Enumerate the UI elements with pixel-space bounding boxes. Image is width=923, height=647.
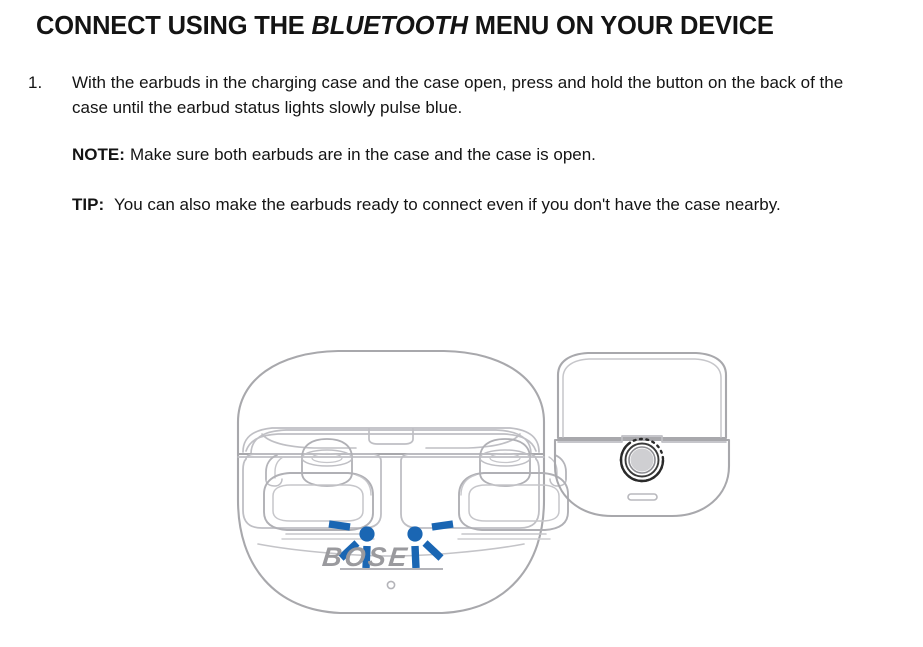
- right-status-light-ray-down: [415, 546, 416, 568]
- note-callout: NOTE: Make sure both earbuds are in the …: [72, 142, 908, 167]
- right-status-light-dot: [407, 526, 422, 541]
- note-text: Make sure both earbuds are in the case a…: [130, 142, 908, 167]
- step-number: 1.: [28, 70, 72, 95]
- instruction-step-1: 1. With the earbuds in the charging case…: [28, 70, 908, 217]
- case-lid-outline: [238, 351, 544, 454]
- case-open-front-view: [238, 351, 568, 613]
- right-status-light-ray-diag: [425, 543, 441, 558]
- right-earbud-ear-tip-top: [480, 450, 530, 466]
- step-text: With the earbuds in the charging case an…: [72, 70, 872, 120]
- left-earbud-ear-tip-top: [302, 450, 352, 466]
- right-earbud-body-outer-edge: [461, 475, 476, 495]
- right-earbud-status-light: [407, 524, 453, 568]
- case-lid-rim-lower: [246, 434, 536, 451]
- page-title: CONNECT USING THE BLUETOOTH MENU ON YOUR…: [36, 12, 896, 41]
- case-back-lid-inner: [563, 359, 721, 437]
- case-lid-pad-right: [426, 434, 520, 448]
- left-earbud-body-face: [273, 485, 363, 521]
- bose-logo-text: BOSE: [321, 541, 411, 572]
- step-body: With the earbuds in the charging case an…: [72, 70, 908, 217]
- pairing-button[interactable]: [621, 439, 663, 481]
- note-label: NOTE:: [72, 142, 130, 167]
- charging-case-illustration: BOSE: [0, 318, 923, 647]
- pairing-button-face: [631, 449, 654, 472]
- page-title-before: CONNECT USING THE: [36, 12, 312, 40]
- case-back-view: [555, 353, 729, 516]
- charging-case-illustration-svg: BOSE: [0, 318, 923, 647]
- tip-callout: TIP: You can also make the earbuds ready…: [72, 192, 908, 217]
- left-earbud-body-outer-edge: [356, 475, 371, 495]
- left-status-light-dot: [359, 526, 374, 541]
- case-back-charging-port: [628, 494, 657, 500]
- case-lid-center-notch: [369, 429, 413, 444]
- tip-text: You can also make the earbuds ready to c…: [114, 192, 908, 217]
- page-title-after: MENU ON YOUR DEVICE: [468, 12, 774, 40]
- right-status-light-ray-upper: [432, 524, 453, 527]
- right-earbud-body-face: [469, 485, 559, 521]
- left-status-light-ray-upper: [329, 524, 350, 527]
- case-microphone-hole: [387, 581, 394, 588]
- tip-label: TIP:: [72, 192, 114, 217]
- case-back-lid-outline: [558, 353, 726, 438]
- page-title-keyword-bluetooth: BLUETOOTH: [312, 12, 468, 40]
